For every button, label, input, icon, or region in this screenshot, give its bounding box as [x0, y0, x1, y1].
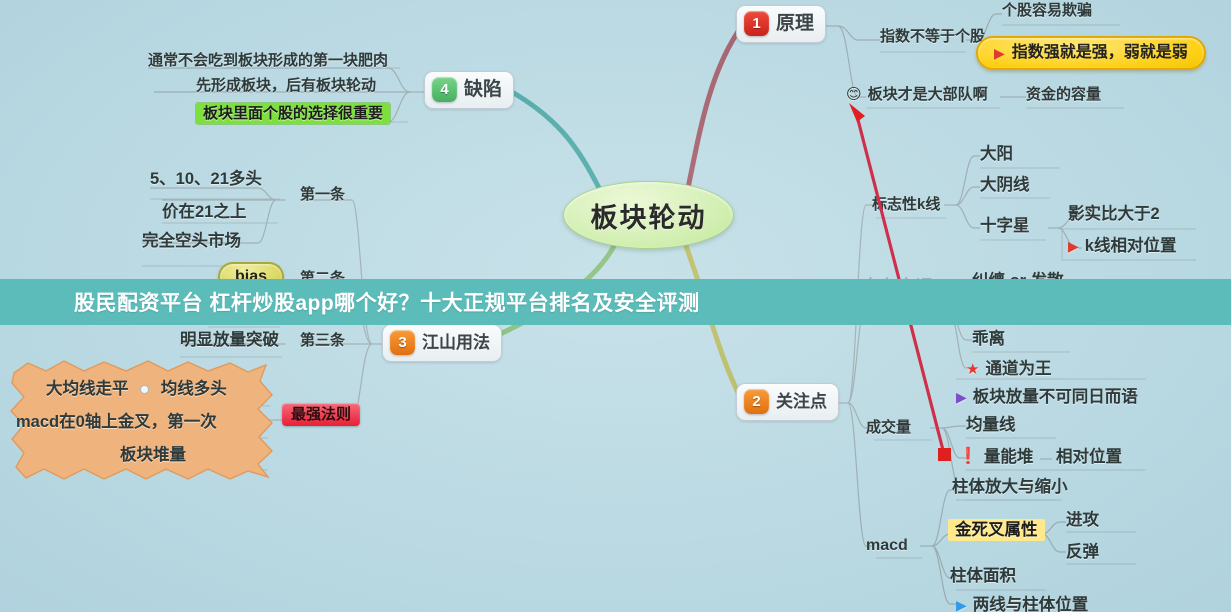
- focus-macd-item-2[interactable]: 柱体面积: [950, 567, 1016, 586]
- focus-volume-sub[interactable]: 相对位置: [1056, 448, 1122, 467]
- focus-kline-item-2[interactable]: 十字星: [980, 217, 1030, 236]
- usage-rule1-item-0[interactable]: 5、10、21多头: [150, 170, 262, 189]
- number-badge-4: 4: [432, 77, 457, 102]
- focus-kline-item-0-label: 大阳: [980, 145, 1013, 163]
- usage-rule3-item-0[interactable]: 明显放量突破: [180, 331, 279, 350]
- focus-ma-item-2-label: 乖离: [972, 330, 1005, 348]
- focus-volume-label[interactable]: 成交量: [866, 419, 911, 436]
- usage-rule1-label-text: 第一条: [300, 186, 345, 203]
- play-icon: ▶: [994, 46, 1005, 60]
- principle-highlight-oval[interactable]: ▶ 指数强就是强，弱就是弱: [976, 36, 1206, 70]
- defect-item-1[interactable]: 先形成板块，后有板块轮动: [196, 77, 376, 94]
- branch-node-principle[interactable]: 1 原理: [736, 5, 826, 43]
- focus-kline-cross-child-1-label: k线相对位置: [1085, 237, 1177, 256]
- focus-macd-item-3-label: 两线与柱体位置: [973, 596, 1089, 612]
- strongest-item-row-1[interactable]: macd在0轴上金叉，第一次: [16, 413, 276, 432]
- branch-label-usage: 江山用法: [422, 333, 490, 353]
- branch-node-usage[interactable]: 3 江山用法: [382, 324, 502, 362]
- focus-volume-item-0[interactable]: 均量线: [966, 416, 1016, 435]
- strongest-item-3-label: 板块堆量: [120, 446, 186, 464]
- principle-child-0[interactable]: 个股容易欺骗: [1002, 2, 1092, 19]
- focus-macd-item-0-label: 柱体放大与缩小: [952, 478, 1068, 496]
- star-icon: ★: [966, 361, 979, 378]
- focus-macd-label-text: macd: [866, 537, 908, 554]
- usage-rule1-label[interactable]: 第一条: [300, 186, 345, 203]
- play-icon: ▶: [956, 390, 967, 404]
- usage-strongest-rule[interactable]: 最强法则: [282, 406, 360, 424]
- focus-kline-item-1-label: 大阴线: [980, 176, 1030, 194]
- principle-index-vs-stock-label: 指数不等于个股: [880, 28, 985, 45]
- defect-item-0-label: 通常不会吃到板块形成的第一块肥肉: [148, 52, 388, 69]
- strongest-rule-items: 大均线走平 均线多头 macd在0轴上金叉，第一次 板块堆量: [8, 370, 276, 465]
- focus-volume-item-1-label: 量能堆: [984, 448, 1034, 467]
- strongest-item-1-label: 均线多头: [161, 380, 227, 398]
- focus-macd-item-0[interactable]: 柱体放大与缩小: [952, 478, 1068, 497]
- promo-banner-text: 股民配资平台 杠杆炒股app哪个好？十大正规平台排名及安全评测: [74, 287, 700, 317]
- principle-highlight-wrap: ▶ 指数强就是强，弱就是弱: [976, 36, 1206, 70]
- focus-kline-cross-child-0[interactable]: 影实比大于2: [1068, 205, 1160, 224]
- usage-rule3-label[interactable]: 第三条: [300, 332, 345, 349]
- focus-macd-item-1[interactable]: 金死叉属性: [948, 521, 1045, 540]
- focus-kline-item-2-label: 十字星: [980, 217, 1030, 235]
- mindmap-canvas: 板块轮动 4 缺陷 通常不会吃到板块形成的第一块肥肉 先形成板块，后有板块轮动 …: [0, 0, 1231, 612]
- branch-label-defect: 缺陷: [464, 79, 502, 101]
- focus-volume-lead[interactable]: ▶ 板块放量不可同日而语: [956, 388, 1138, 407]
- usage-rule1-item-2-label: 完全空头市场: [142, 232, 241, 250]
- focus-macd-item-1-label: 金死叉属性: [948, 519, 1045, 541]
- center-node[interactable]: 板块轮动: [563, 181, 734, 249]
- usage-rule3-item-0-label: 明显放量突破: [180, 331, 279, 349]
- branch-node-defect[interactable]: 4 缺陷: [424, 71, 514, 109]
- defect-item-0[interactable]: 通常不会吃到板块形成的第一块肥肉: [148, 52, 388, 69]
- usage-rule1-item-0-label: 5、10、21多头: [150, 170, 262, 188]
- strongest-item-2-label: macd在0轴上金叉，第一次: [16, 413, 217, 431]
- number-badge-1: 1: [744, 11, 769, 36]
- focus-macd-attr-child-1-label: 反弹: [1066, 543, 1099, 561]
- focus-macd-item-2-label: 柱体面积: [950, 567, 1016, 585]
- focus-volume-item-0-label: 均量线: [966, 416, 1016, 434]
- focus-kline-item-1[interactable]: 大阴线: [980, 176, 1030, 195]
- strongest-item-row-2[interactable]: 板块堆量: [120, 446, 276, 465]
- focus-macd-attr-child-0-label: 进攻: [1066, 511, 1099, 529]
- focus-kline-label-text: 标志性k线: [872, 196, 940, 213]
- principle-highlight-label: 指数强就是强，弱就是弱: [1012, 44, 1188, 62]
- usage-rule1-item-1[interactable]: 价在21之上: [162, 203, 246, 222]
- defect-item-2[interactable]: 板块里面个股的选择很重要: [196, 105, 390, 123]
- focus-macd-label[interactable]: macd: [866, 537, 908, 555]
- usage-rule1-item-1-label: 价在21之上: [162, 203, 246, 221]
- principle-index-vs-stock[interactable]: 指数不等于个股: [880, 28, 985, 45]
- focus-macd-item-3[interactable]: ▶ 两线与柱体位置: [956, 596, 1088, 612]
- focus-kline-cross-child-1[interactable]: ▶ k线相对位置: [1068, 237, 1176, 256]
- focus-macd-attr-child-1[interactable]: 反弹: [1066, 543, 1099, 562]
- branch-node-focus[interactable]: 2 关注点: [736, 383, 839, 421]
- smiley-icon: 😊: [846, 86, 862, 103]
- play-icon: ▶: [956, 598, 967, 612]
- focus-kline-cross-child-0-label: 影实比大于2: [1068, 205, 1160, 223]
- principle-sector-army-label: 板块才是大部队啊: [868, 86, 988, 103]
- strongest-item-0-label: 大均线走平: [46, 380, 129, 398]
- focus-ma-item-3-label: 通道为王: [985, 360, 1051, 379]
- focus-kline-item-0[interactable]: 大阳: [980, 145, 1013, 164]
- usage-rule1-item-2[interactable]: 完全空头市场: [142, 232, 241, 251]
- focus-volume-lead-label: 板块放量不可同日而语: [973, 388, 1138, 407]
- branch-label-principle: 原理: [776, 13, 814, 35]
- usage-rule3-label-text: 第三条: [300, 332, 345, 349]
- center-node-label: 板块轮动: [591, 196, 707, 235]
- number-badge-2: 2: [744, 389, 769, 414]
- sibling-dot-icon: [140, 385, 149, 394]
- focus-ma-item-2[interactable]: 乖离: [972, 330, 1005, 349]
- play-icon: ▶: [1068, 239, 1079, 253]
- strongest-item-row-0[interactable]: 大均线走平 均线多头: [46, 380, 276, 399]
- number-badge-3: 3: [390, 330, 415, 355]
- usage-strongest-rule-label: 最强法则: [282, 403, 360, 426]
- principle-capital-capacity-label: 资金的容量: [1026, 86, 1101, 103]
- focus-macd-attr-child-0[interactable]: 进攻: [1066, 511, 1099, 530]
- focus-volume-sub-label: 相对位置: [1056, 448, 1122, 466]
- focus-ma-item-3[interactable]: ★ 通道为王: [966, 360, 1051, 379]
- principle-child-0-label: 个股容易欺骗: [1002, 2, 1092, 19]
- principle-capital-capacity[interactable]: 资金的容量: [1026, 86, 1101, 103]
- branch-label-focus: 关注点: [776, 392, 827, 412]
- focus-volume-label-text: 成交量: [866, 419, 911, 436]
- promo-banner: 股民配资平台 杠杆炒股app哪个好？十大正规平台排名及安全评测: [0, 279, 1231, 325]
- focus-volume-item-1[interactable]: ❗ 量能堆: [958, 448, 1033, 467]
- focus-kline-label[interactable]: 标志性k线: [872, 196, 940, 213]
- defect-item-2-label: 板块里面个股的选择很重要: [196, 103, 390, 124]
- exclamation-icon: ❗: [958, 448, 978, 466]
- principle-sector-army[interactable]: 😊 板块才是大部队啊: [846, 86, 988, 103]
- defect-item-1-label: 先形成板块，后有板块轮动: [196, 77, 376, 94]
